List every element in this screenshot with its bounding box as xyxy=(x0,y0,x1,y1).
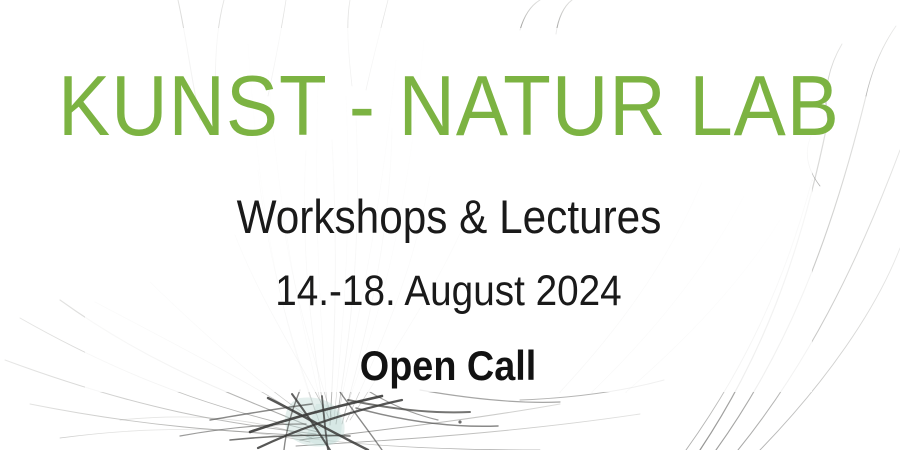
ink-fleck xyxy=(458,420,461,423)
event-poster: KUNST - NATUR LAB Workshops & Lectures 1… xyxy=(0,0,900,450)
poster-dates: 14.-18. August 2024 xyxy=(275,270,621,313)
poster-subtitle: Workshops & Lectures xyxy=(236,193,661,240)
poster-text-stack: KUNST - NATUR LAB Workshops & Lectures 1… xyxy=(85,28,812,392)
poster-title: KUNST - NATUR LAB xyxy=(58,64,840,149)
poster-open-call: Open Call xyxy=(360,345,536,387)
